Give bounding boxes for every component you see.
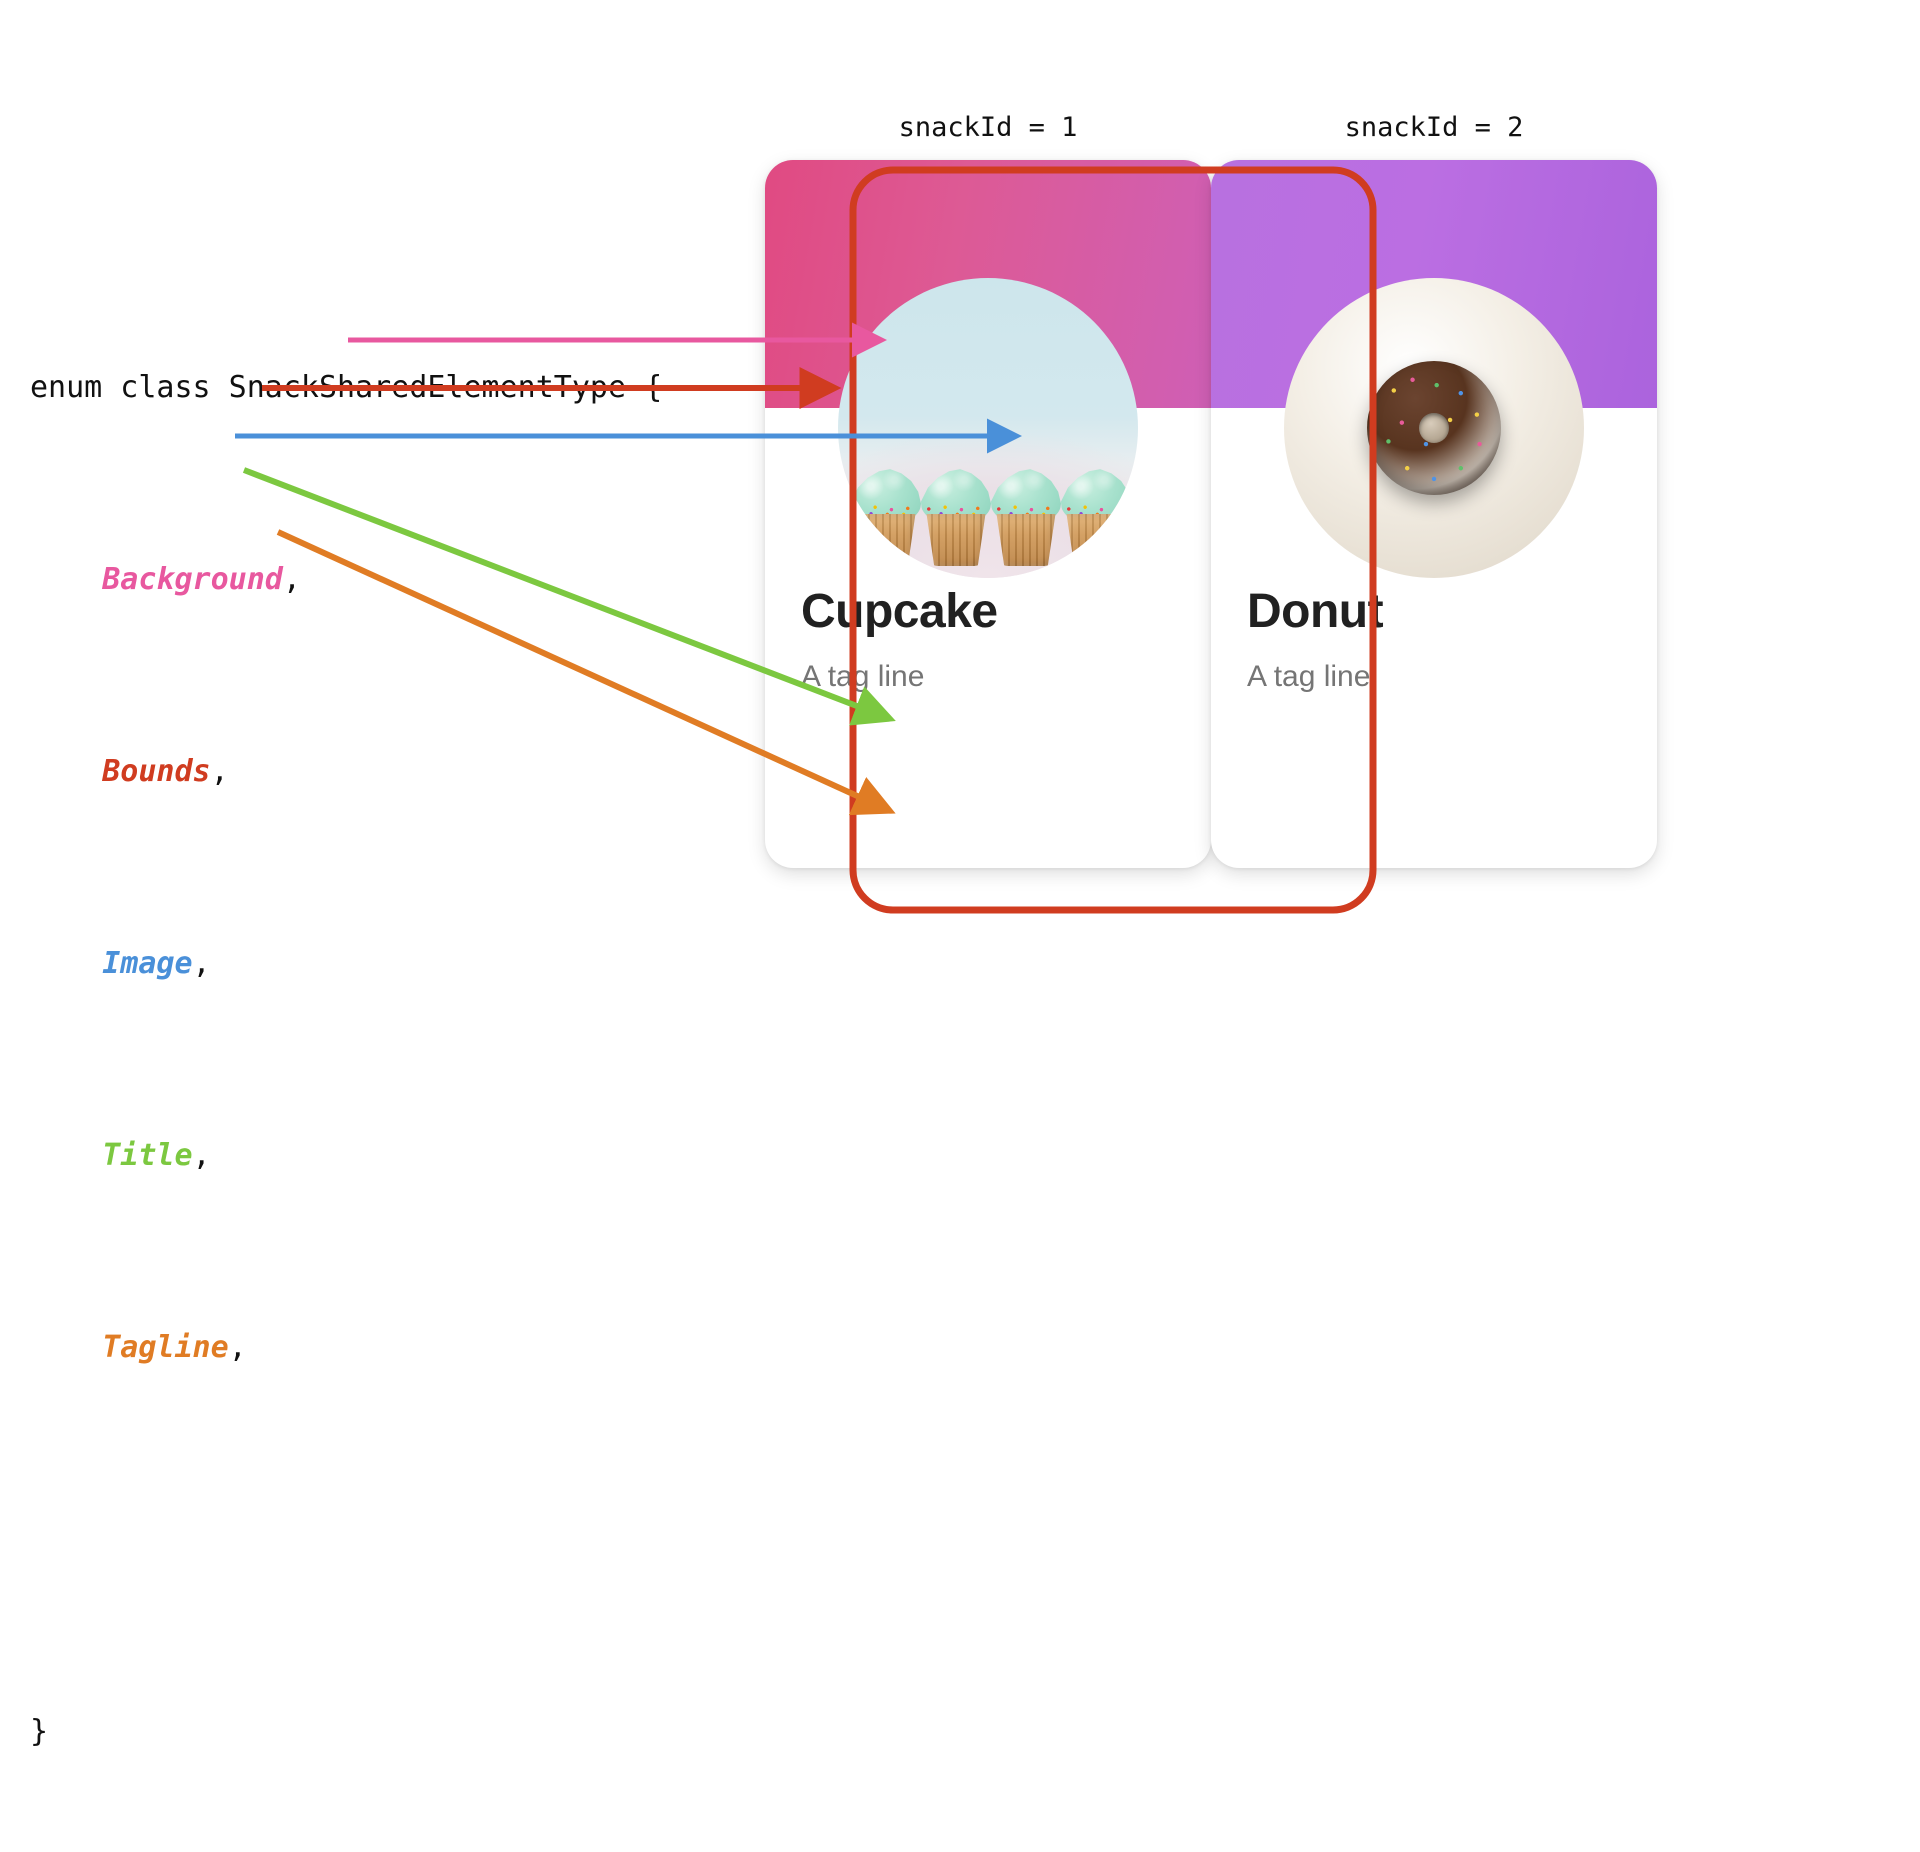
code-line-title: Title, bbox=[30, 1132, 662, 1180]
enum-member-tagline: Tagline bbox=[102, 1330, 228, 1365]
donut-hole bbox=[1419, 413, 1449, 443]
enum-member-title: Title bbox=[102, 1138, 192, 1173]
card-tagline-donut: A tag line bbox=[1247, 660, 1370, 694]
code-line-tagline: Tagline, bbox=[30, 1324, 662, 1372]
code-line-image: Image, bbox=[30, 940, 662, 988]
snack-card-cupcake[interactable]: Cupcake A tag line bbox=[765, 160, 1211, 868]
enum-member-image: Image bbox=[102, 946, 192, 981]
comma-background: , bbox=[283, 562, 301, 597]
enum-member-background: Background bbox=[102, 562, 283, 597]
code-line-blank bbox=[30, 1516, 662, 1564]
diagram-stage: enum class SnackSharedElementType { Back… bbox=[0, 0, 1920, 1080]
donut-photo bbox=[1284, 278, 1584, 578]
code-block: enum class SnackSharedElementType { Back… bbox=[30, 268, 662, 1852]
snack-id-label-2: snackId = 2 bbox=[1345, 112, 1524, 143]
enum-member-bounds: Bounds bbox=[102, 754, 210, 789]
snack-id-label-1: snackId = 1 bbox=[899, 112, 1078, 143]
card-image-donut bbox=[1284, 278, 1584, 578]
comma-title: , bbox=[193, 1138, 211, 1173]
card-image-cupcake bbox=[838, 278, 1138, 578]
comma-bounds: , bbox=[211, 754, 229, 789]
snack-card-donut[interactable]: Donut A tag line bbox=[1211, 160, 1657, 868]
card-title-cupcake: Cupcake bbox=[801, 584, 998, 639]
comma-tagline: , bbox=[229, 1330, 247, 1365]
code-line-closing-brace: } bbox=[30, 1708, 662, 1756]
comma-image: , bbox=[193, 946, 211, 981]
code-line-background: Background, bbox=[30, 556, 662, 604]
card-tagline-cupcake: A tag line bbox=[801, 660, 924, 694]
cupcake-photo bbox=[838, 278, 1138, 578]
card-title-donut: Donut bbox=[1247, 584, 1383, 639]
code-line-bounds: Bounds, bbox=[30, 748, 662, 796]
code-line-declaration: enum class SnackSharedElementType { bbox=[30, 364, 662, 412]
